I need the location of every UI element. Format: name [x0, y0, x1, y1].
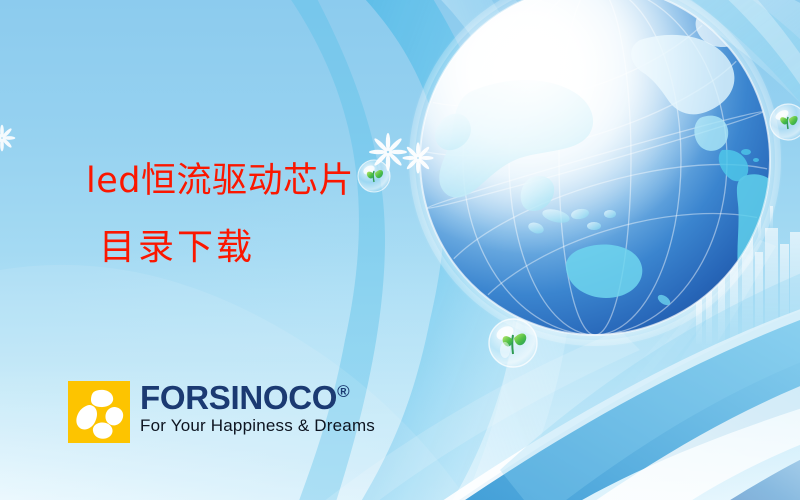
- eco-bubble-lower: [489, 319, 537, 367]
- globe-gloss: [420, 0, 770, 335]
- blue-earth-globe: [399, 0, 791, 348]
- eco-bubble-corner: [770, 104, 800, 140]
- bottom-right-diagonal-swoosh: [300, 250, 800, 500]
- logo-name-text: FORSINOCO: [140, 379, 337, 416]
- registered-trademark-icon: ®: [337, 382, 349, 401]
- forsinoco-four-petal-mark: [68, 381, 130, 443]
- city-skyline-silhouette: [580, 206, 800, 436]
- headline-line-1: led恒流驱动芯片: [86, 164, 354, 199]
- logo-company-name: FORSINOCO®: [140, 381, 375, 415]
- logo-tagline: For Your Happiness & Dreams: [140, 416, 375, 435]
- sparkle-right: [402, 142, 433, 173]
- skyline-light-rays: [580, 240, 776, 436]
- eco-bubble-upper: [358, 160, 390, 192]
- globe-parallels: [399, 16, 791, 305]
- globe-outer-glow: [412, 0, 778, 343]
- globe-meridians: [420, 0, 770, 335]
- sparkle-small: [0, 125, 15, 152]
- globe-halo: [407, 0, 783, 348]
- headline-line-2: 目录下载: [99, 230, 354, 266]
- headline-text: led恒流驱动芯片 目录下载: [86, 164, 354, 266]
- company-logo[interactable]: FORSINOCO® For Your Happiness & Dreams: [68, 381, 375, 443]
- globe-continents: [435, 11, 783, 307]
- logo-wordmark-block: FORSINOCO® For Your Happiness & Dreams: [140, 381, 375, 435]
- promo-banner: led恒流驱动芯片 目录下载 FORSINOCO®: [0, 0, 800, 500]
- sparkle-left: [369, 133, 407, 171]
- globe-rim: [420, 0, 770, 335]
- globe-sphere: [420, 0, 770, 335]
